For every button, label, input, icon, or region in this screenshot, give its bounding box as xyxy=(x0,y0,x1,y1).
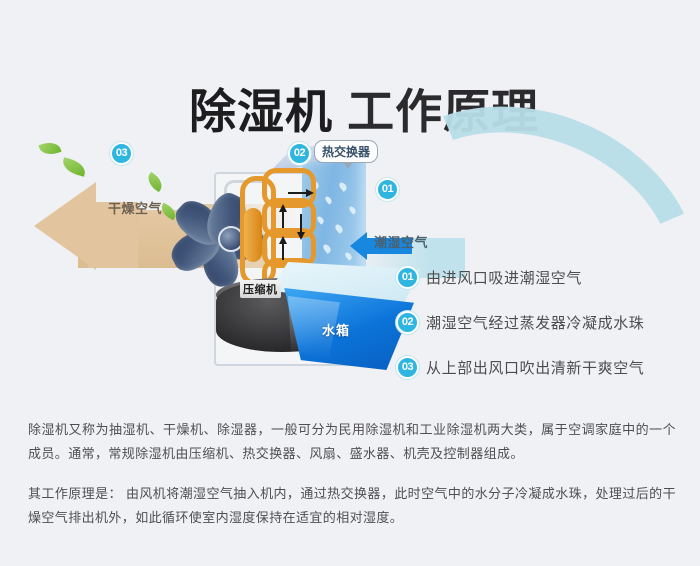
body-paragraph-1: 除湿机又称为抽湿机、干燥机、除湿器，一般可分为民用除湿机和工业除湿机两大类，属于… xyxy=(28,418,676,466)
callout-badge-02: 02 xyxy=(288,142,311,165)
flow-arrow-right xyxy=(288,192,306,194)
body-paragraph-2: 其工作原理是： 由风机将潮湿空气抽入机内，通过热交换器，此时空气中的水分子冷凝成… xyxy=(28,482,676,530)
list-item: 03 从上部出风口吹出清新干爽空气 xyxy=(396,345,686,390)
flow-arrow-right-head xyxy=(306,189,314,197)
accumulator-icon xyxy=(244,208,262,262)
flow-arrow-up xyxy=(282,210,284,228)
callout-bubble-heat-exchanger: 热交换器 xyxy=(314,140,378,163)
callout-badge-01: 01 xyxy=(376,178,399,201)
flow-arrow-down xyxy=(300,214,302,232)
list-item: 01 由进风口吸进潮湿空气 xyxy=(396,255,686,300)
step-badge-03: 03 xyxy=(396,356,419,379)
step-badge-02: 02 xyxy=(396,311,419,334)
water-tank-label: 水箱 xyxy=(322,320,350,339)
step-text-03: 从上部出风口吹出清新干爽空气 xyxy=(426,357,644,378)
callout-dry-air: 03 干燥空气 xyxy=(110,142,133,165)
leaf-icon xyxy=(38,139,61,158)
body-copy: 除湿机又称为抽湿机、干燥机、除湿器，一般可分为民用除湿机和工业除湿机两大类，属于… xyxy=(28,418,676,546)
list-item: 02 潮湿空气经过蒸发器冷凝成水珠 xyxy=(396,300,686,345)
callout-label-dry-air: 干燥空气 xyxy=(108,198,192,217)
callout-humid-air: 01 潮湿空气 xyxy=(376,178,399,201)
callout-label-humid-air: 潮湿空气 xyxy=(374,232,452,251)
compressor-label: 压缩机 xyxy=(240,280,281,298)
callout-heat-exchanger: 02 热交换器 xyxy=(288,142,311,165)
flow-arrow-down-head xyxy=(297,232,305,240)
callout-badge-03: 03 xyxy=(110,142,133,165)
flow-arrow-up-head xyxy=(279,204,287,212)
step-text-01: 由进风口吸进潮湿空气 xyxy=(426,267,582,288)
steps-list: 01 由进风口吸进潮湿空气 02 潮湿空气经过蒸发器冷凝成水珠 03 从上部出风… xyxy=(396,255,686,390)
step-text-02: 潮湿空气经过蒸发器冷凝成水珠 xyxy=(426,312,644,333)
flow-arrow-up-head xyxy=(279,236,287,244)
flow-arrow-up xyxy=(282,242,284,260)
step-badge-01: 01 xyxy=(396,266,419,289)
